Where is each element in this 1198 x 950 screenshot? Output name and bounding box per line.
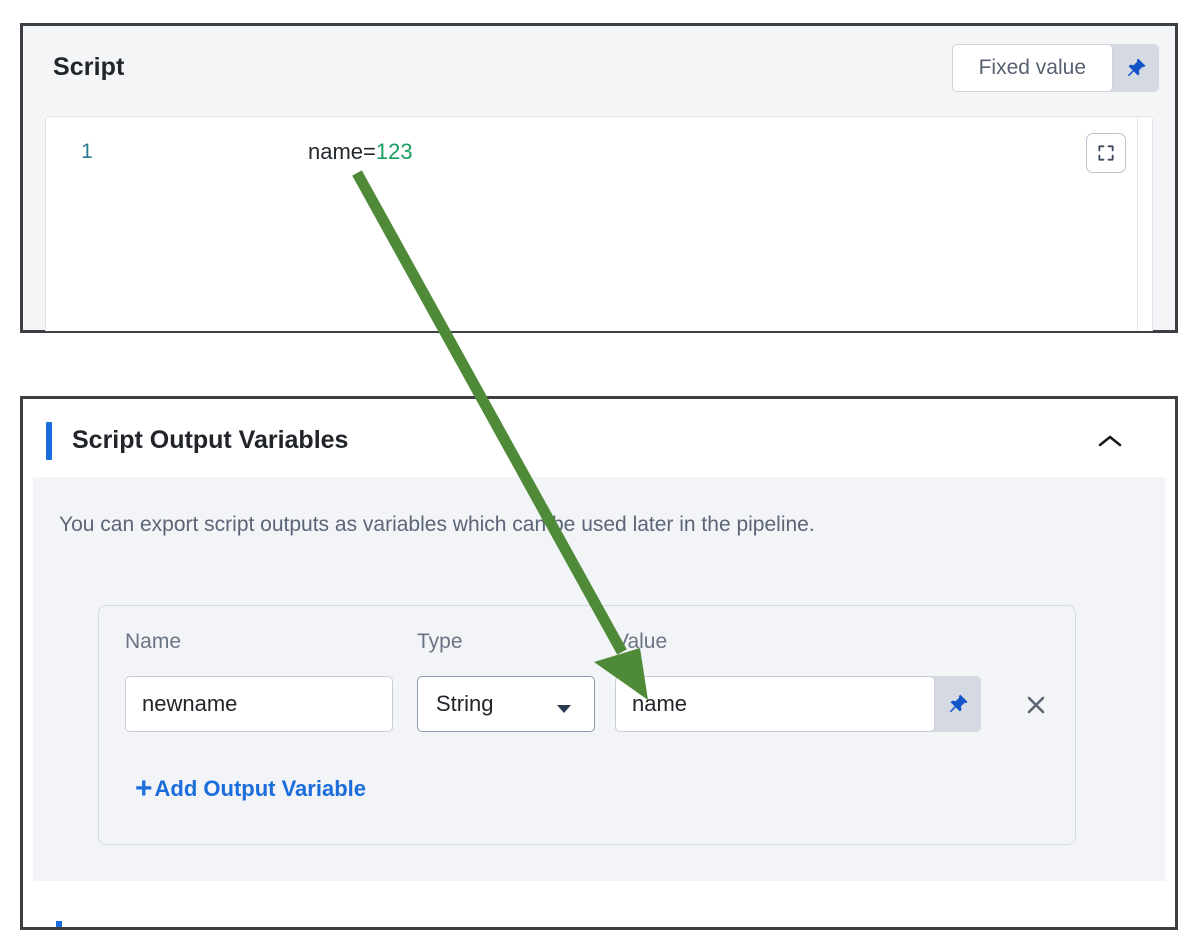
- output-variable-card: Name Type Value String: [98, 605, 1076, 845]
- expand-icon[interactable]: [1086, 133, 1126, 173]
- line-number: 1: [46, 140, 128, 164]
- chevron-down-icon: [556, 701, 572, 719]
- variable-value-control: [615, 676, 981, 732]
- script-panel: Script Fixed value 1 name=123: [20, 23, 1178, 333]
- script-panel-header: Script Fixed value: [23, 26, 1175, 118]
- variable-type-value: String: [436, 691, 493, 717]
- column-header-type: Type: [417, 630, 463, 654]
- pin-icon[interactable]: [1113, 44, 1159, 92]
- code-line-1: 1 name=123: [46, 135, 413, 169]
- section-description: You can export script outputs as variabl…: [59, 513, 815, 537]
- fixed-value-control: Fixed value: [952, 44, 1159, 92]
- close-icon[interactable]: [1019, 688, 1053, 722]
- code-token-value: 123: [376, 139, 413, 164]
- section-title: Script Output Variables: [72, 426, 348, 455]
- column-header-value: Value: [615, 630, 667, 654]
- variable-type-select[interactable]: String: [417, 676, 595, 732]
- code-token-assignment: name=: [308, 139, 376, 164]
- page-title: Script: [53, 53, 124, 82]
- section-body: You can export script outputs as variabl…: [33, 477, 1165, 881]
- next-section-accent-bar: [56, 921, 62, 927]
- variable-name-input[interactable]: [125, 676, 393, 732]
- section-footer: [33, 881, 1165, 927]
- editor-scrollbar[interactable]: [1137, 117, 1152, 331]
- script-output-variables-panel: Script Output Variables You can export s…: [20, 396, 1178, 930]
- section-header: Script Output Variables: [23, 399, 1175, 477]
- script-code-editor[interactable]: 1 name=123: [45, 116, 1153, 331]
- code-content: name=123: [308, 139, 413, 165]
- chevron-up-icon[interactable]: [1093, 426, 1127, 456]
- fixed-value-button[interactable]: Fixed value: [952, 44, 1113, 92]
- add-output-variable-label: Add Output Variable: [155, 776, 366, 802]
- plus-icon: +: [135, 774, 153, 804]
- table-row: String: [99, 676, 1075, 732]
- column-header-name: Name: [125, 630, 181, 654]
- pin-icon[interactable]: [935, 676, 981, 732]
- add-output-variable-button[interactable]: + Add Output Variable: [135, 774, 366, 804]
- section-accent-bar: [46, 422, 52, 460]
- variable-value-input[interactable]: [615, 676, 935, 732]
